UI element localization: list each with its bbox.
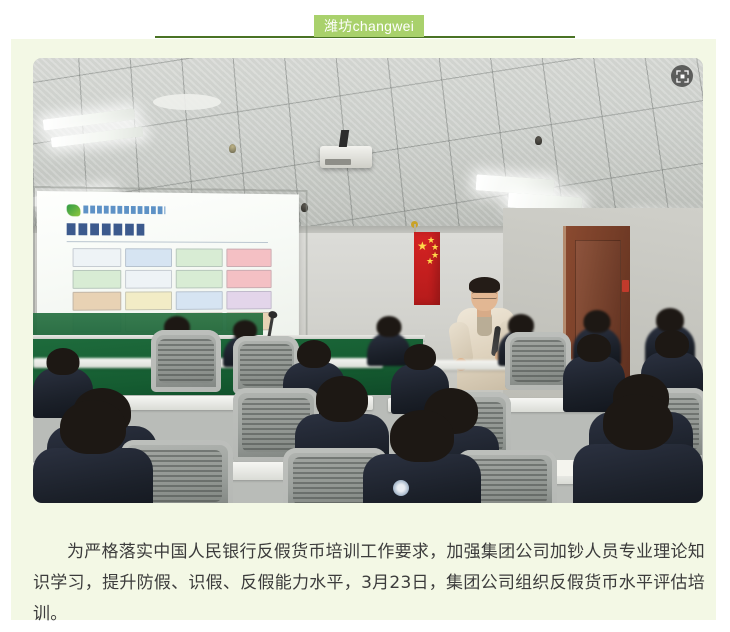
flag-star: ★: [426, 257, 434, 266]
attendee-head: [47, 348, 80, 375]
attendee-head: [603, 394, 673, 450]
attendee-uniform: [33, 448, 153, 503]
ceiling-round-vent: [153, 94, 221, 110]
banknote-sample: [73, 270, 121, 289]
attendee-head: [316, 376, 368, 422]
banknote-sample: [73, 248, 121, 267]
article-card: ★ ★ ★ ★ ★: [11, 39, 716, 620]
slide-company-text: [83, 205, 165, 214]
banknote-sample: [176, 291, 222, 310]
attendee-head: [584, 310, 611, 333]
banknote-sample: [226, 270, 272, 288]
attendee: [33, 430, 153, 503]
fullscreen-expand-icon[interactable]: [671, 65, 693, 87]
attendee-head: [577, 334, 611, 362]
attendee-head: [404, 344, 436, 370]
chinese-flag: ★ ★ ★ ★ ★: [414, 232, 440, 305]
banknote-sample: [73, 292, 121, 311]
attendee-head: [655, 330, 689, 358]
chair: [151, 330, 221, 392]
slide-logo: [67, 204, 81, 216]
article-page: 潍坊changwei: [0, 0, 730, 632]
banknote-sample: [176, 248, 222, 267]
attendee-head: [60, 400, 126, 454]
presenter-glasses: [472, 292, 497, 299]
attendee-head: [656, 308, 684, 332]
attendee-uniform: [573, 444, 703, 503]
wall-marker: [622, 280, 629, 292]
banknote-sample: [226, 249, 272, 267]
slide-rule: [67, 241, 268, 243]
banknote-sample: [176, 270, 222, 289]
chair: [505, 332, 571, 390]
article-caption: 为严格落实中国人民银行反假货币培训工作要求，加强集团公司加钞人员专业理论知识学习…: [33, 537, 705, 630]
banknote-sample: [125, 270, 172, 289]
attendee: [363, 438, 481, 503]
site-title-badge: 潍坊changwei: [314, 15, 424, 37]
ceiling-projector: [320, 146, 372, 168]
page-header: 潍坊changwei: [0, 0, 730, 40]
attendee-head: [297, 340, 331, 368]
training-photo[interactable]: ★ ★ ★ ★ ★: [33, 58, 703, 503]
photo-scene: ★ ★ ★ ★ ★: [33, 58, 703, 503]
attendee-head: [390, 410, 454, 462]
banknote-sample: [125, 291, 172, 310]
banknote-sample: [125, 248, 172, 267]
uniform-badge: [393, 480, 409, 496]
attendee: [573, 426, 703, 503]
sprinkler-head: [535, 136, 542, 145]
banknote-sample: [226, 291, 272, 310]
sprinkler-head: [229, 144, 236, 153]
presenter-hair: [469, 277, 500, 293]
slide-title-text: [67, 223, 145, 235]
attendee-head: [377, 316, 402, 337]
